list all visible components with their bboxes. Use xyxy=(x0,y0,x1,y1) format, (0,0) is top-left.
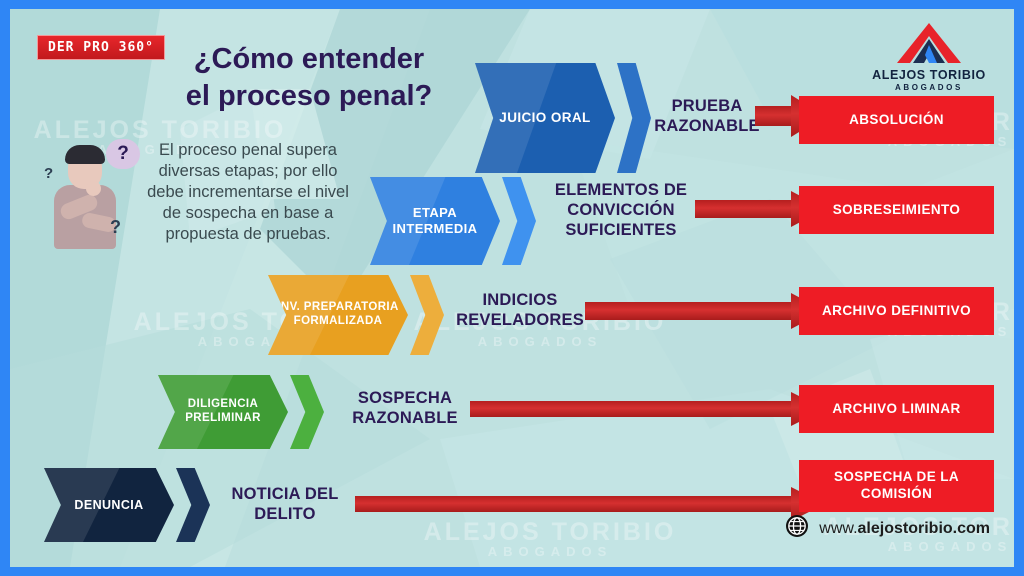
middle-label-1: ELEMENTOS DE CONVICCIÓN SUFICIENTES xyxy=(531,181,711,240)
stage-chevron-3[interactable]: DILIGENCIA PRELIMINAR xyxy=(158,375,288,449)
watermark: ALEJOS TORIBIO ABOGADOS xyxy=(400,519,700,559)
arrow-shaft-4 xyxy=(355,496,797,512)
stage-chevron-0[interactable]: JUICIO ORAL xyxy=(475,63,615,173)
result-box-3[interactable]: ARCHIVO LIMINAR xyxy=(799,385,994,433)
stage-chevron-shape-3: DILIGENCIA PRELIMINAR xyxy=(158,375,288,449)
arrow-shaft-0 xyxy=(755,106,797,126)
person-hand xyxy=(86,181,101,196)
website-footer[interactable]: www.alejostoribio.com xyxy=(785,514,990,543)
logo-name: ALEJOS TORIBIO xyxy=(864,68,994,82)
middle-label-3: SOSPECHA RAZONABLE xyxy=(340,389,470,429)
flow-arrow-4 xyxy=(355,487,825,521)
canvas-inner: ALEJOS TORIBIO ABOGADOS ALEJOS TORIBIO A… xyxy=(10,9,1014,567)
result-box-0[interactable]: ABSOLUCIÓN xyxy=(799,96,994,144)
stage-tick-2 xyxy=(410,275,444,355)
watermark-line2: ABOGADOS xyxy=(400,545,700,559)
middle-label-2: INDICIOS REVELADORES xyxy=(450,291,590,331)
brand-logo: ALEJOS TORIBIO ABOGADOS xyxy=(864,21,994,92)
result-box-2[interactable]: ARCHIVO DEFINITIVO xyxy=(799,287,994,335)
title-line-1: ¿Cómo entender xyxy=(144,41,474,78)
stage-chevron-shape-0: JUICIO ORAL xyxy=(475,63,615,173)
arrow-shaft-3 xyxy=(470,401,797,417)
result-box-1[interactable]: SOBRESEIMIENTO xyxy=(799,186,994,234)
page-title: ¿Cómo entender el proceso penal? xyxy=(144,41,474,115)
infographic-canvas: ALEJOS TORIBIO ABOGADOS ALEJOS TORIBIO A… xyxy=(0,0,1024,576)
title-line-2: el proceso penal? xyxy=(144,78,474,115)
middle-label-0: PRUEBA RAZONABLE xyxy=(642,97,772,137)
stage-chevron-2[interactable]: INV. PREPARATORIA FORMALIZADA xyxy=(268,275,408,355)
arrow-shaft-2 xyxy=(585,302,797,319)
intro-paragraph: El proceso penal supera diversas etapas;… xyxy=(142,140,354,246)
stage-label-3: DILIGENCIA PRELIMINAR xyxy=(158,398,288,426)
stage-tick-4 xyxy=(176,468,210,542)
flow-arrow-3 xyxy=(470,392,825,426)
result-box-4[interactable]: SOSPECHA DE LA COMISIÓN xyxy=(799,460,994,512)
stage-chevron-shape-4: DENUNCIA xyxy=(44,468,174,542)
flow-arrow-2 xyxy=(585,293,825,329)
website-url[interactable]: www.alejostoribio.com xyxy=(819,520,990,538)
stage-label-4: DENUNCIA xyxy=(74,498,143,513)
thinking-person-illustration: ? ? ? xyxy=(30,137,142,249)
stage-chevron-4[interactable]: DENUNCIA xyxy=(44,468,174,542)
globe-icon xyxy=(785,514,809,543)
stage-chevron-shape-2: INV. PREPARATORIA FORMALIZADA xyxy=(268,275,408,355)
stage-chevron-1[interactable]: ETAPA INTERMEDIA xyxy=(370,177,500,265)
person-hair xyxy=(65,145,105,164)
url-prefix: www. xyxy=(819,520,857,537)
stage-label-2: INV. PREPARATORIA FORMALIZADA xyxy=(268,301,408,329)
stage-chevron-shape-1: ETAPA INTERMEDIA xyxy=(370,177,500,265)
middle-label-4: NOTICIA DEL DELITO xyxy=(215,485,355,525)
url-main: alejostoribio.com xyxy=(858,520,990,537)
question-mark-left-icon: ? xyxy=(44,165,53,182)
question-mark-right-icon: ? xyxy=(110,217,121,238)
stage-label-1: ETAPA INTERMEDIA xyxy=(370,205,500,236)
stage-tick-3 xyxy=(290,375,324,449)
watermark-line1: ALEJOS TORIBIO xyxy=(400,519,700,545)
arrow-shaft-1 xyxy=(695,200,797,217)
thought-bubble-icon: ? xyxy=(106,139,140,169)
stage-label-0: JUICIO ORAL xyxy=(499,110,590,126)
logo-sub: ABOGADOS xyxy=(864,83,994,92)
logo-mark-icon xyxy=(895,21,963,65)
